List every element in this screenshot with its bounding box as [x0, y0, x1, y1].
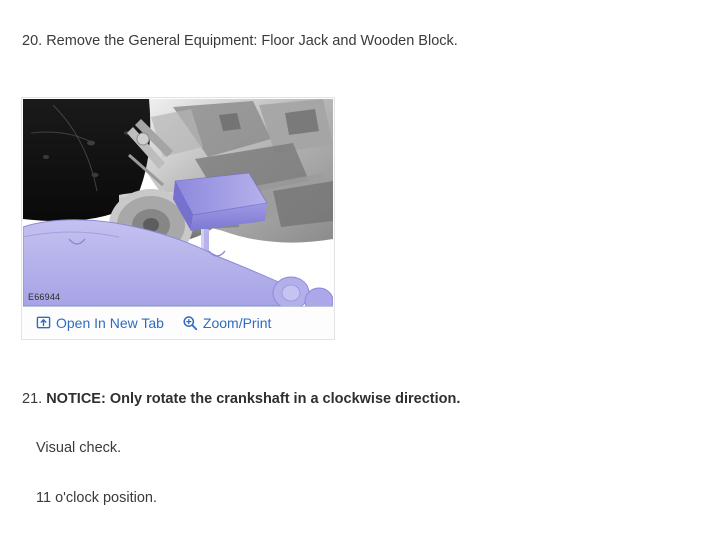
- figure-image: E66944: [23, 99, 333, 306]
- open-in-new-tab-link[interactable]: Open In New Tab: [35, 315, 164, 331]
- step-20-text: Remove the General Equipment: Floor Jack…: [46, 33, 458, 49]
- document-page: 20. Remove the General Equipment: Floor …: [0, 0, 715, 538]
- magnifier-plus-icon: [182, 315, 198, 331]
- underbody-illustration: [23, 99, 333, 306]
- subline-clock-position: 11 o'clock position.: [36, 489, 157, 507]
- subline-visual-check: Visual check.: [36, 439, 121, 457]
- step-20: 20. Remove the General Equipment: Floor …: [22, 32, 458, 50]
- figure-code-label: E66944: [28, 292, 60, 302]
- step-21: 21. NOTICE: Only rotate the crankshaft i…: [22, 390, 460, 408]
- step-20-number: 20.: [22, 32, 42, 50]
- open-in-new-tab-icon: [35, 315, 51, 331]
- open-in-new-tab-label: Open In New Tab: [56, 315, 164, 331]
- figure-container: E66944 Open In New Tab: [21, 97, 335, 340]
- zoom-print-link[interactable]: Zoom/Print: [182, 315, 271, 331]
- figure-toolbar: Open In New Tab Zoom/Print: [23, 306, 333, 338]
- step-21-text: NOTICE: Only rotate the crankshaft in a …: [46, 391, 460, 407]
- step-21-number: 21.: [22, 390, 42, 408]
- zoom-print-label: Zoom/Print: [203, 315, 271, 331]
